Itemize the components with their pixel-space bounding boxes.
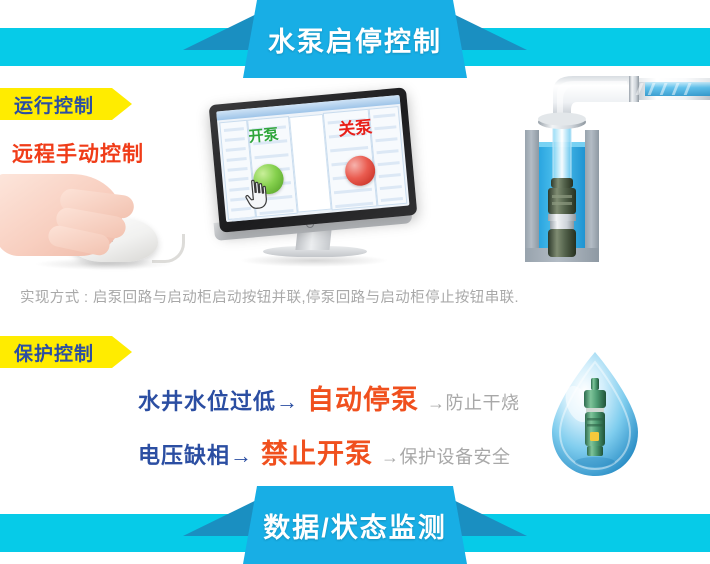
rule-result: →防止干烧 [427, 389, 520, 415]
banner-bottom-title: 数据/状态监测 [243, 486, 467, 564]
banner-top-title: 水泵启停控制 [243, 0, 467, 78]
tag-run-control-arrow-icon [112, 88, 132, 120]
rule-result: →保护设备安全 [381, 443, 511, 469]
well-pump-illustration [497, 62, 710, 267]
rule-action: 禁止开泵 [261, 432, 373, 471]
desktop-monitor-illustration: 开泵 关泵 [205, 96, 420, 271]
protection-rule: 水井水位过低→ 自动停泵 →防止干烧 [138, 378, 520, 417]
banner-bottom: 数据/状态监测 [0, 486, 710, 564]
hand-on-mouse-illustration [0, 168, 180, 276]
water-droplet-svg [534, 348, 656, 484]
hand-cursor-icon [242, 177, 271, 211]
well-pump-svg [497, 62, 710, 267]
monitor-screen: 开泵 关泵 [216, 95, 409, 222]
start-pump-label: 开泵 [248, 123, 280, 147]
rule-condition: 电压缺相→ [138, 438, 253, 470]
stop-pump-label: 关泵 [337, 112, 373, 140]
remote-manual-subtitle: 远程手动控制 [12, 138, 144, 168]
water-droplet-illustration [534, 348, 656, 484]
tag-protect-control-arrow-icon [112, 336, 132, 368]
tag-protect-control: 保护控制 [0, 336, 112, 368]
monitor-bezel: 开泵 关泵 [209, 87, 418, 232]
tag-run-control: 运行控制 [0, 88, 112, 120]
rule-action: 自动停泵 [307, 378, 419, 417]
tag-run-control-label: 运行控制 [0, 91, 94, 118]
poster-stage: 水泵启停控制 运行控制 远程手动控制 [0, 0, 710, 564]
implementation-note: 实现方式 : 启泵回路与启动柜启动按钮并联,停泵回路与启动柜停止按钮串联. [20, 286, 519, 307]
tag-protect-control-label: 保护控制 [0, 339, 94, 366]
rule-condition: 水井水位过低→ [138, 384, 299, 416]
stop-pump-button[interactable] [344, 154, 377, 187]
protection-rule: 电压缺相→ 禁止开泵 →保护设备安全 [138, 432, 511, 471]
